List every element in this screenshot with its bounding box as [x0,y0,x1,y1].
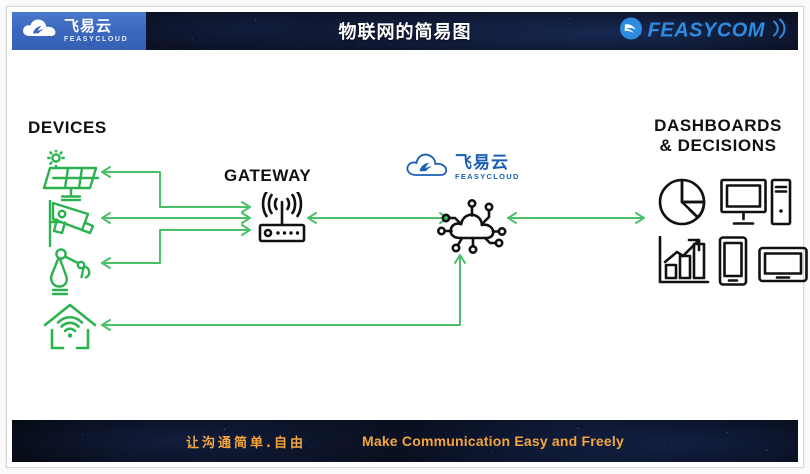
footer-bar: 让沟通简单.自由 Make Communication Easy and Fre… [12,420,798,462]
pie-chart-icon[interactable] [658,178,708,233]
feasycom-wordmark: FEASYCOM [648,20,765,43]
center-logo-chinese: 飞易云 [455,155,520,172]
footer-slogan-chinese: 让沟通简单.自由 [186,432,306,451]
slide-root: 飞易云 FEASYCLOUD 物联网的简易图 FEASYCOM [0,0,810,474]
router-icon[interactable] [252,192,312,255]
arrow-robot-path [102,230,250,263]
cloud-outline-icon [404,150,452,185]
center-logo-text: 飞易云 FEASYCLOUD [455,155,520,181]
desktop-computer-icon[interactable] [720,178,792,233]
solar-panel-icon[interactable] [40,150,100,207]
footer-slogan-english: Make Communication Easy and Freely [362,433,624,449]
feasycom-logo[interactable]: FEASYCOM [619,17,790,46]
smart-home-icon[interactable] [42,302,98,357]
cloud-network-icon[interactable] [436,190,508,263]
feasycom-circle-icon [619,17,643,46]
bar-chart-growth-icon[interactable] [658,236,710,291]
smartphone-icon[interactable] [718,236,748,291]
signal-waves-icon [770,17,790,46]
laptop-icon[interactable] [758,246,808,291]
feasycloud-center-logo[interactable]: 飞易云 FEASYCLOUD [404,150,520,185]
center-logo-english: FEASYCLOUD [455,173,520,181]
arrow-home-cloud-path [102,255,460,325]
diagram-canvas: DEVICES GATEWAY DASHBOARDS & DECISIONS [12,50,798,408]
header-bar: 飞易云 FEASYCLOUD 物联网的简易图 FEASYCOM [12,12,798,50]
robotic-arm-icon[interactable] [42,246,98,303]
